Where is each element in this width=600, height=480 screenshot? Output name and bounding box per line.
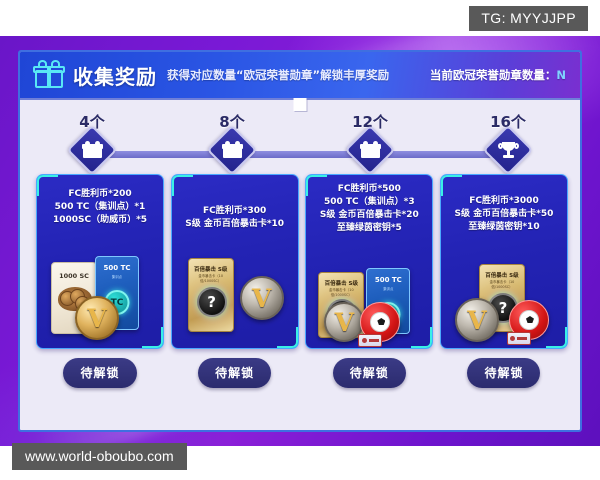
- reward-line: 500 TC（集训点）*1: [42, 201, 158, 214]
- reward-list-2: FC胜利币*300 S级 金币百倍暴击卡*10: [172, 175, 298, 231]
- tc-card-title: 500 TC: [367, 276, 409, 284]
- unlock-button-label: 待解锁: [467, 358, 540, 388]
- v-medal-icon: V: [75, 296, 119, 340]
- reward-line: S级 金币百倍暴击卡*10: [177, 218, 293, 231]
- mystery-orb-icon: ?: [197, 287, 227, 317]
- reward-card-3[interactable]: FC胜利币*500 500 TC（集训点）*3 S级 金币百倍暴击卡*20 至臻…: [305, 174, 433, 349]
- milestone-track: 4个 8个 12个: [20, 106, 580, 176]
- milestone-diamond-1: [67, 125, 118, 176]
- reward-list-3: FC胜利币*500 500 TC（集训点）*3 S级 金币百倍暴击卡*20 至臻…: [306, 175, 432, 235]
- milestone-node-1[interactable]: 4个: [69, 132, 115, 168]
- medal-counter-label: 当前欧冠荣誉勋章数量：: [430, 68, 557, 82]
- trophy-icon: [499, 142, 518, 159]
- reward-line: FC胜利币*500: [311, 183, 427, 196]
- reward-list-4: FC胜利币*3000 S级 金币百倍暴击卡*50 至臻绿茵密钥*10: [441, 175, 567, 234]
- tc-card-subtitle: 集训点: [367, 286, 409, 291]
- reward-line: 1000SC（助威币）*5: [42, 214, 158, 227]
- v-medal-icon: V: [240, 276, 284, 320]
- sc-card-title: 1000 SC: [52, 272, 96, 280]
- reward-card-list: FC胜利币*200 500 TC（集训点）*1 1000SC（助威币）*5 10…: [36, 174, 568, 349]
- tc-card-subtitle: 集训点: [96, 274, 138, 279]
- milestone-node-3[interactable]: 12个: [347, 132, 393, 168]
- crit-card-subtitle: 金币暴击卡（10倍/1000SC）: [319, 287, 363, 297]
- crit-card-title: 百倍暴击 S级: [480, 271, 524, 279]
- reward-line: S级 金币百倍暴击卡*50: [446, 208, 562, 221]
- gift-box-icon: [83, 143, 102, 158]
- milestone-diamond-4: [483, 125, 534, 176]
- reward-card-2[interactable]: FC胜利币*300 S级 金币百倍暴击卡*10 百倍暴击 S级 金币暴击卡（10…: [171, 174, 299, 349]
- reward-line: 至臻绿茵密钥*10: [446, 221, 562, 234]
- key-tag-icon: [507, 332, 531, 345]
- reward-line: FC胜利币*300: [177, 205, 293, 218]
- crit-card-subtitle: 金币暴击卡（10倍/1000SC）: [189, 273, 233, 283]
- reward-line: FC胜利币*200: [42, 188, 158, 201]
- reward-card-1[interactable]: FC胜利币*200 500 TC（集训点）*1 1000SC（助威币）*5 10…: [36, 174, 164, 349]
- unlock-button-2[interactable]: 待解锁: [171, 358, 299, 388]
- tc-card-title: 500 TC: [96, 264, 138, 272]
- gift-box-icon: [361, 143, 380, 158]
- crit-card-title: 百倍暴击 S级: [189, 265, 233, 273]
- unlock-button-1[interactable]: 待解锁: [36, 358, 164, 388]
- reward-art-4: 百倍暴击 S级 金币暴击卡（10倍/1000SC） ? V: [441, 260, 567, 346]
- unlock-button-3[interactable]: 待解锁: [305, 358, 433, 388]
- unlock-button-4[interactable]: 待解锁: [440, 358, 568, 388]
- header-notch: [294, 98, 307, 111]
- screenshot-root: TG: MYYJJPP 收集奖励 获得对应数量“欧冠荣誉勋章”解锁丰厚奖励 当前…: [0, 0, 600, 480]
- reward-art-2: 百倍暴击 S级 金币暴击卡（10倍/1000SC） ? V: [172, 248, 298, 346]
- unlock-button-label: 待解锁: [198, 358, 271, 388]
- reward-line: 500 TC（集训点）*3: [311, 196, 427, 209]
- reward-line: S级 金币百倍暴击卡*20: [311, 209, 427, 222]
- panel-header: 收集奖励 获得对应数量“欧冠荣誉勋章”解锁丰厚奖励 当前欧冠荣誉勋章数量：N: [20, 52, 580, 100]
- reward-line: 至臻绿茵密钥*5: [311, 222, 427, 235]
- crit-card-icon: 百倍暴击 S级 金币暴击卡（10倍/1000SC） ?: [188, 258, 234, 332]
- milestone-diamond-2: [207, 125, 258, 176]
- page-title: 收集奖励: [73, 61, 157, 90]
- milestone-node-2[interactable]: 8个: [209, 132, 255, 168]
- crit-card-title: 百倍暴击 S级: [319, 279, 363, 287]
- reward-line: FC胜利币*3000: [446, 195, 562, 208]
- promo-stage: 收集奖励 获得对应数量“欧冠荣誉勋章”解锁丰厚奖励 当前欧冠荣誉勋章数量：N 4…: [0, 36, 600, 446]
- milestone-diamond-3: [345, 125, 396, 176]
- unlock-button-label: 待解锁: [333, 358, 406, 388]
- gift-box-icon: [223, 143, 242, 158]
- reward-art-1: 1000 SC 500 TC 集训点 TC V: [37, 248, 163, 346]
- key-tag-icon: [358, 334, 382, 347]
- reward-card-4[interactable]: FC胜利币*3000 S级 金币百倍暴击卡*50 至臻绿茵密钥*10 百倍暴击 …: [440, 174, 568, 349]
- unlock-button-label: 待解锁: [63, 358, 136, 388]
- reward-art-3: 百倍暴击 S级 金币暴击卡（10倍/1000SC） ? 500 TC 集训点 T…: [306, 258, 432, 346]
- medal-counter: 当前欧冠荣誉勋章数量：N: [430, 67, 566, 83]
- unlock-button-row: 待解锁 待解锁 待解锁 待解锁: [36, 358, 568, 388]
- crit-card-subtitle: 金币暴击卡（10倍/1000SC）: [480, 279, 524, 289]
- milestone-node-4[interactable]: 16个: [485, 132, 531, 168]
- progress-bar: [90, 151, 510, 158]
- gift-icon: [34, 61, 64, 89]
- header-subtitle: 获得对应数量“欧冠荣誉勋章”解锁丰厚奖励: [167, 67, 389, 83]
- site-watermark: www.world-oboubo.com: [12, 443, 187, 470]
- v-medal-icon: V: [455, 298, 499, 342]
- reward-list-1: FC胜利币*200 500 TC（集训点）*1 1000SC（助威币）*5: [37, 175, 163, 227]
- medal-counter-value: N: [556, 68, 566, 82]
- telegram-watermark: TG: MYYJJPP: [469, 6, 588, 31]
- reward-panel: 收集奖励 获得对应数量“欧冠荣誉勋章”解锁丰厚奖励 当前欧冠荣誉勋章数量：N 4…: [18, 50, 582, 432]
